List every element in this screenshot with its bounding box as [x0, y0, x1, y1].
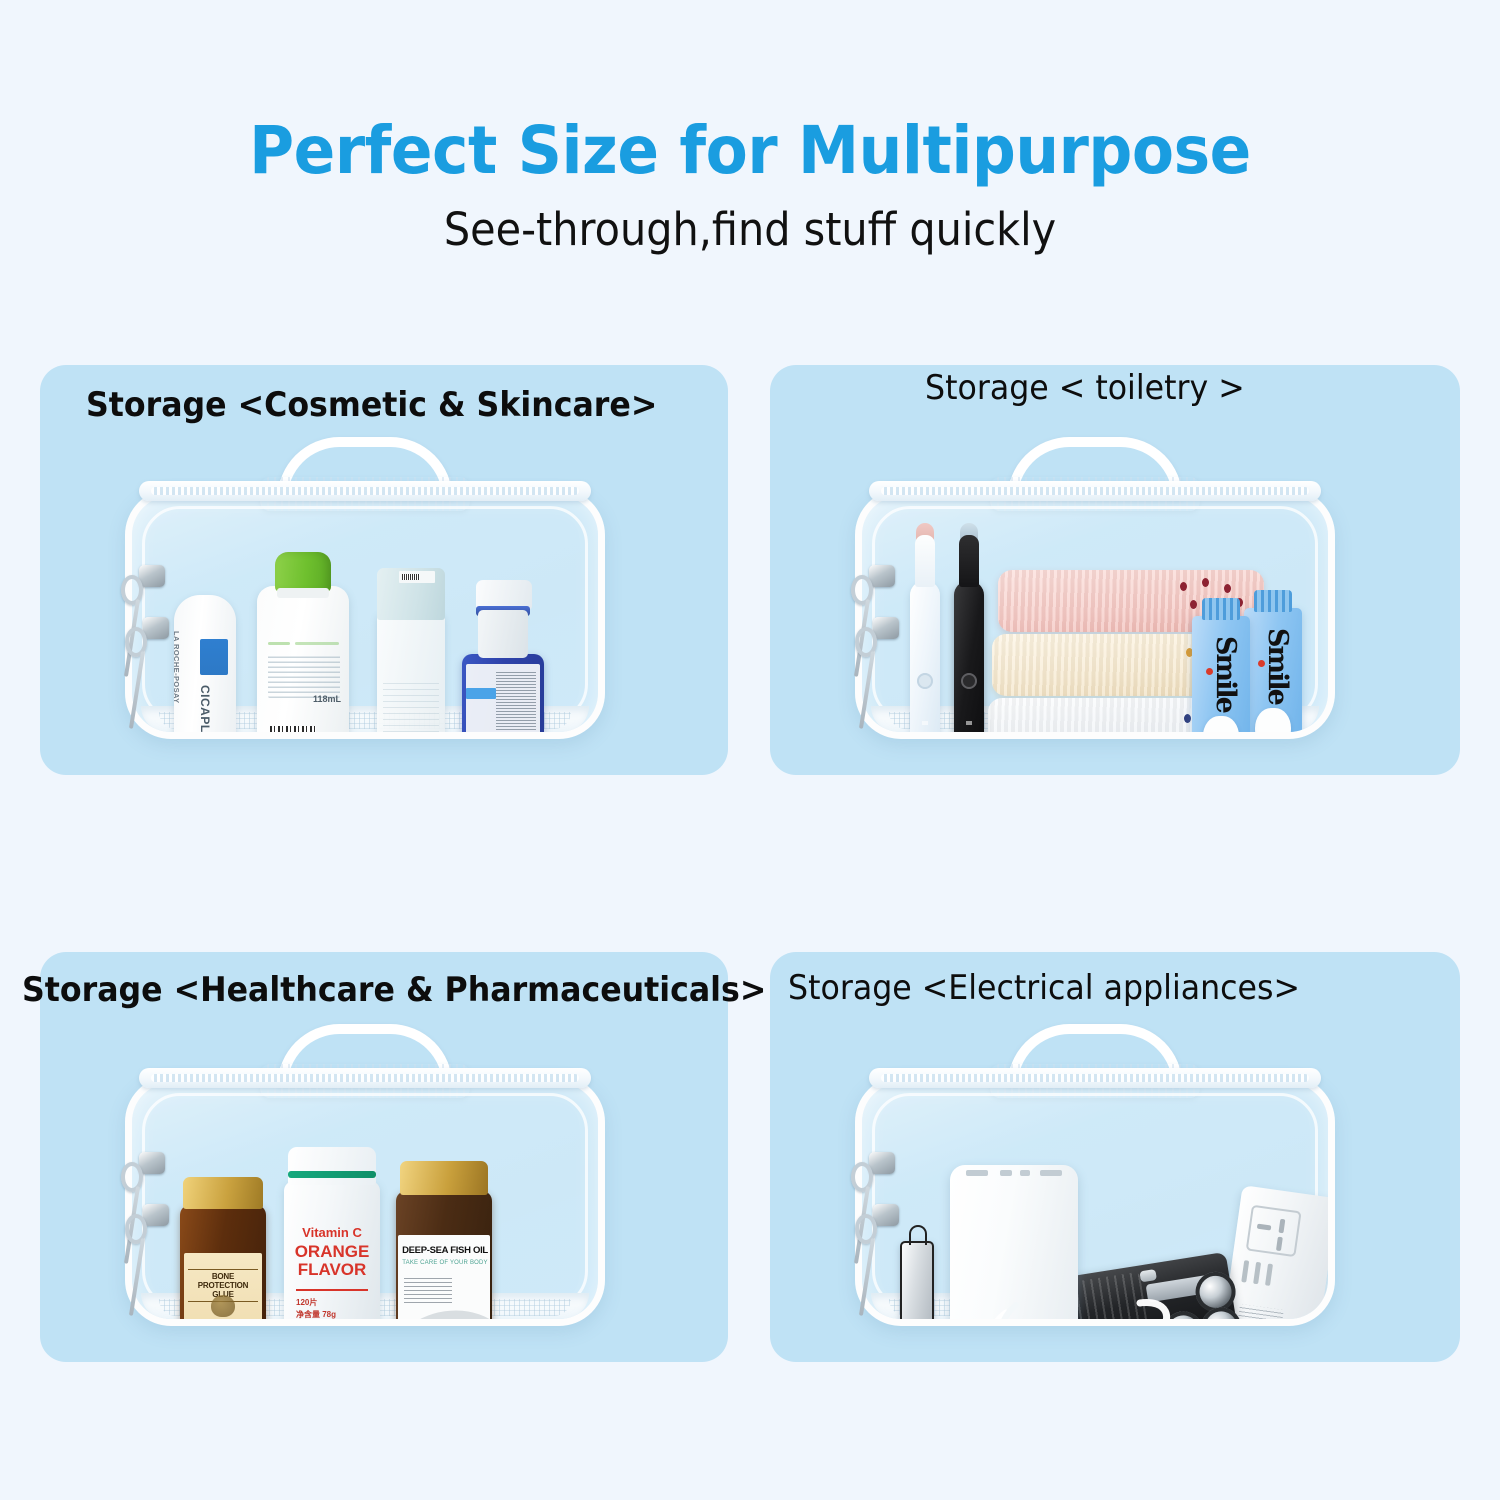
bag-body: [855, 1076, 1335, 1326]
adapter-spec-text: [1237, 1304, 1283, 1326]
infographic-page: Perfect Size for Multipurpose See-throug…: [0, 0, 1500, 1500]
zipper-teeth: [151, 487, 579, 495]
toothpaste-brand-dot: [1258, 660, 1265, 667]
bag-body: Smile Smile: [855, 489, 1335, 739]
bag-body: LA ROCHE-POSAY CICAPLAST B5 118mL 393648: [125, 489, 605, 739]
tablet-count: 120片: [296, 1298, 317, 1307]
clear-storage-bag-electronics: [855, 1024, 1335, 1326]
serum-label-stripe: [466, 688, 496, 699]
usb-keyring-loop: [909, 1225, 927, 1245]
clear-storage-bag-cosmetic: LA ROCHE-POSAY CICAPLAST B5 118mL 393648: [125, 437, 605, 739]
fish-oil-title: DEEP-SEA FISH OIL: [402, 1245, 488, 1256]
bottle-text-line: [295, 642, 339, 645]
label-divider: [296, 1289, 368, 1291]
bottle-cap-white: [288, 1147, 376, 1185]
toothpaste-brand-dot: [1206, 668, 1213, 675]
pump-base: [478, 610, 528, 658]
power-button-icon[interactable]: [961, 673, 977, 689]
tube-product-text: CICAPLAST: [198, 685, 212, 739]
bottle-cap-green: [275, 552, 331, 592]
page-title: Perfect Size for Multipurpose: [53, 112, 1448, 189]
bag-contents: LA ROCHE-POSAY CICAPLAST B5 118mL 393648: [132, 548, 598, 739]
panel-label-cosmetic-skincare: Storage <Cosmetic & Skincare>: [86, 385, 657, 425]
fish-oil-body-text: [404, 1277, 452, 1303]
toothpaste-cap: [1254, 590, 1292, 612]
bag-body: BONE PROTECTION GLUE Vitamin C ORANGE FL…: [125, 1076, 605, 1326]
bottle-label-emblem: [211, 1295, 235, 1317]
barcode: [270, 726, 316, 739]
tooth-icon: [1203, 716, 1239, 739]
tube-brand-text: LA ROCHE-POSAY: [172, 631, 181, 661]
panel-label-toiletry: Storage < toiletry >: [925, 368, 1245, 408]
tube-variant-text: B5: [184, 733, 204, 739]
toothpaste-tube-smile-2: Smile: [1244, 608, 1302, 739]
deep-sea-fish-oil-bottle: DEEP-SEA FISH OIL TAKE CARE OF YOUR BODY: [396, 1191, 492, 1326]
bottle-label: DEEP-SEA FISH OIL TAKE CARE OF YOUR BODY: [398, 1235, 490, 1326]
toothbrush-grip: [922, 711, 928, 739]
toothpaste-tube-smile-1: Smile: [1192, 616, 1250, 739]
bottle-text-line: [268, 642, 290, 645]
bottle-cap-gold: [183, 1177, 262, 1209]
bag-contents: [862, 1135, 1328, 1326]
flavor-line-1: ORANGE: [295, 1242, 370, 1261]
bottle-cap-gold: [400, 1161, 488, 1195]
toothbrush-head: [915, 535, 935, 587]
usb-flash-drive: [900, 1241, 934, 1326]
header: Perfect Size for Multipurpose See-throug…: [0, 0, 1500, 256]
vitamin-c-meta: 120片 净含量 78g (650mg x20 ): [296, 1297, 374, 1326]
zipper-teeth: [881, 487, 1309, 495]
bag-contents: BONE PROTECTION GLUE Vitamin C ORANGE FL…: [132, 1135, 598, 1326]
clear-storage-bag-healthcare: BONE PROTECTION GLUE Vitamin C ORANGE FL…: [125, 1024, 605, 1326]
toothpaste-brand-text: Smile: [1262, 628, 1293, 704]
tube-blue-block: [200, 639, 228, 675]
vitamin-c-bottle: Vitamin C ORANGE FLAVOR 120片 净含量 78g (65…: [284, 1181, 380, 1326]
bottle-neck: [277, 588, 329, 598]
bottle-label: BONE PROTECTION GLUE: [184, 1253, 262, 1326]
page-subtitle: See-through,find stuff quickly: [60, 203, 1440, 256]
cable-path: [980, 1277, 1186, 1326]
vitamin-c-title: Vitamin C: [284, 1225, 380, 1240]
la-roche-posay-cicaplast-tube: LA ROCHE-POSAY CICAPLAST B5: [174, 595, 236, 739]
usb-port-row: [1241, 1260, 1296, 1293]
bag-contents: Smile Smile: [862, 548, 1328, 739]
panel-label-electrical-appliances: Storage <Electrical appliances>: [788, 968, 1300, 1008]
label-grey-wave: [398, 1303, 490, 1326]
power-strip-adapter: [1218, 1185, 1335, 1326]
dosage-text: (650mg x20 ): [296, 1322, 343, 1326]
vitamin-c-flavor: ORANGE FLAVOR: [284, 1243, 380, 1279]
bottle-volume-text: 118mL: [313, 694, 341, 704]
electric-toothbrush-white: [910, 581, 940, 739]
bottle-liquid-texture: [383, 678, 439, 739]
toothbrush-grip: [966, 711, 972, 739]
ac-socket-icon: [1246, 1205, 1302, 1258]
clear-storage-bag-toiletry: Smile Smile: [855, 437, 1335, 739]
fish-oil-tagline: TAKE CARE OF YOUR BODY: [402, 1260, 488, 1266]
power-bank-ports: [966, 1170, 1062, 1177]
bottle-seal-ring: [288, 1171, 376, 1178]
white-lotion-bottle-green-cap: 118mL 393648 20261120: [257, 586, 349, 739]
zipper-teeth: [151, 1074, 579, 1082]
toothbrush-head: [959, 535, 979, 587]
electric-toothbrush-black: [954, 581, 984, 739]
panel-label-healthcare-pharmaceuticals: Storage <Healthcare & Pharmaceuticals>: [22, 970, 766, 1010]
blue-serum-pump-bottle: [462, 654, 544, 739]
serum-label: [466, 664, 540, 739]
power-button-icon[interactable]: [917, 673, 933, 689]
usb-charging-cable: [980, 1277, 1186, 1326]
serum-label-text-block: [496, 670, 536, 736]
tooth-icon: [1255, 708, 1291, 739]
toothpaste-cap: [1202, 598, 1240, 620]
frosted-toner-bottle: [377, 612, 445, 739]
bottle-label-text-block: [268, 654, 340, 698]
bottle-sticker: [399, 571, 435, 583]
flavor-line-2: FLAVOR: [298, 1260, 367, 1279]
zipper-teeth: [881, 1074, 1309, 1082]
bone-protection-glue-bottle: BONE PROTECTION GLUE: [180, 1205, 266, 1326]
net-weight: 净含量 78g: [296, 1310, 336, 1319]
toothpaste-brand-text: Smile: [1210, 636, 1241, 712]
